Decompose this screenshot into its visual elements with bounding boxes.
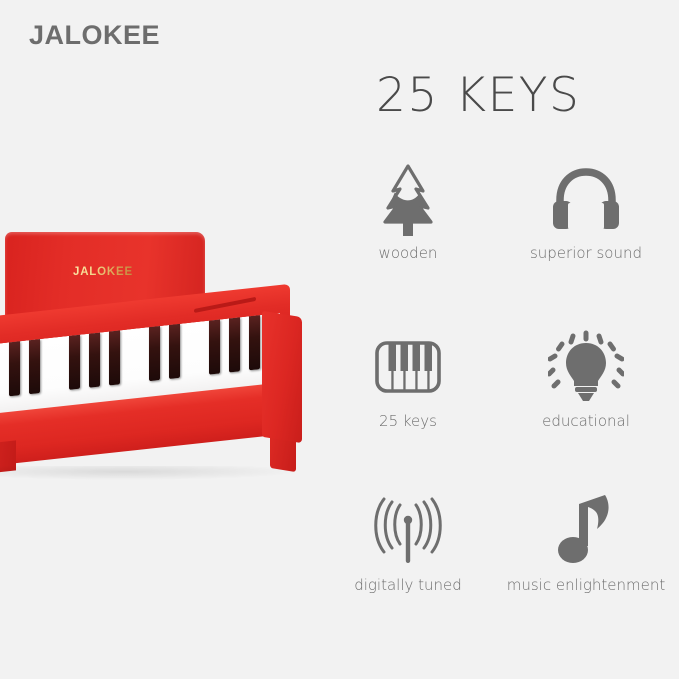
marketing-banner: JALOKEE 25 KEYS JALOKEE	[0, 0, 679, 679]
feature-superior-sound: superior sound	[496, 160, 676, 310]
piano-keys-icon	[373, 328, 443, 406]
feature-grid: wooden superior sound	[318, 160, 679, 610]
brand-wordmark: JALOKEE	[29, 22, 160, 49]
product-photo-toy-piano: JALOKEE	[0, 228, 312, 500]
piano-black-key	[69, 335, 80, 390]
piano-black-key	[149, 326, 160, 381]
piano-black-key	[9, 341, 20, 396]
feature-music-enlightenment: music enlightenment	[496, 492, 676, 642]
feature-label-educational: educational	[542, 412, 630, 430]
piano-drop-shadow	[0, 466, 296, 480]
piano-black-key	[29, 339, 40, 394]
feature-label-wooden: wooden	[379, 244, 438, 262]
feature-digitally-tuned: digitally tuned	[318, 492, 498, 642]
piano-body-wordmark: JALOKEE	[73, 266, 133, 278]
antenna-signal-icon	[370, 492, 446, 570]
music-note-icon	[555, 492, 617, 570]
feature-wooden: wooden	[318, 160, 498, 310]
piano-black-key	[169, 324, 180, 379]
feature-label-music-enlightenment: music enlightenment	[507, 576, 666, 594]
feature-25-keys: 25 keys	[318, 328, 498, 478]
piano-deck-slot	[194, 297, 256, 313]
feature-label-25-keys: 25 keys	[379, 412, 437, 430]
piano-black-key	[209, 320, 220, 375]
piano-black-key	[89, 333, 100, 388]
pine-tree-icon	[375, 160, 441, 238]
feature-label-superior-sound: superior sound	[530, 244, 642, 262]
lightbulb-icon	[548, 328, 624, 406]
piano-black-key	[109, 330, 120, 385]
feature-educational: educational	[496, 328, 676, 478]
piano-black-key	[229, 317, 240, 372]
piano-right-side-panel	[262, 311, 302, 443]
piano-black-key	[249, 315, 260, 370]
headline-title: 25 KEYS	[376, 72, 580, 119]
feature-label-digitally-tuned: digitally tuned	[354, 576, 462, 594]
headphones-icon	[551, 160, 621, 238]
